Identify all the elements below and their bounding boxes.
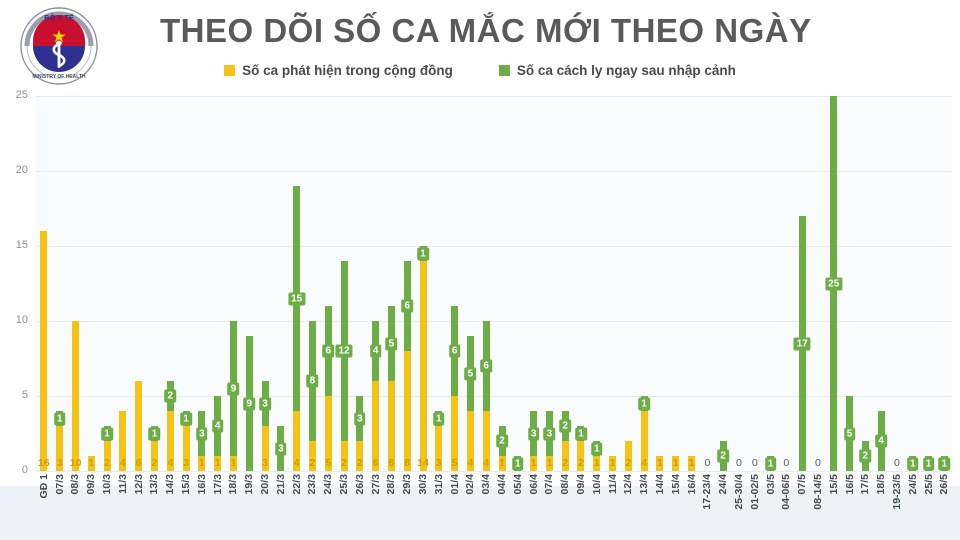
- bar-column[interactable]: [731, 96, 747, 471]
- x-axis-tick: 08-14/5: [810, 474, 826, 540]
- bar-column[interactable]: 1: [573, 96, 589, 471]
- bar-label-quarantine: 3: [354, 412, 366, 425]
- page-title: THEO DÕI SỐ CA MẮC MỚI THEO NGÀY: [160, 8, 800, 54]
- bar-label-quarantine: 1: [417, 247, 429, 260]
- x-axis-tick: 08/3: [68, 474, 84, 540]
- bar-segment-quarantine[interactable]: 4: [214, 396, 221, 456]
- x-axis-tick: 31/3: [431, 474, 447, 540]
- bar-value-label: 4: [636, 455, 652, 471]
- bar-column[interactable]: [131, 96, 147, 471]
- x-axis-tick: 24/5: [905, 474, 921, 540]
- bar-column[interactable]: [68, 96, 84, 471]
- x-axis-tick-label: 25-30/4: [733, 474, 745, 510]
- bar-value-label: 2: [620, 455, 636, 471]
- x-axis-labels-row: GĐ 107/308/309/310/311/312/313/314/315/3…: [36, 474, 952, 540]
- bar-value-label: 14: [415, 455, 431, 471]
- bar-value-label: [826, 455, 842, 471]
- bar-value-label: 5: [320, 455, 336, 471]
- bar-column[interactable]: 1: [415, 96, 431, 471]
- x-axis-tick-label: 03/5: [765, 474, 777, 494]
- bar-value-label: 1: [83, 455, 99, 471]
- bar-label-quarantine: 15: [288, 292, 305, 305]
- bar-value-label: [857, 455, 873, 471]
- bar-value-label: [763, 455, 779, 471]
- bar-value-label: 4: [115, 455, 131, 471]
- bar-column[interactable]: 6: [399, 96, 415, 471]
- y-tick-10: 10: [16, 314, 28, 326]
- bar-label-quarantine: 1: [101, 427, 113, 440]
- bar-column[interactable]: 5: [463, 96, 479, 471]
- bar-value-label: 1: [652, 455, 668, 471]
- legend-item-quarantine[interactable]: Số ca cách ly ngay sau nhập cảnh: [499, 63, 736, 78]
- bar-column[interactable]: 3: [194, 96, 210, 471]
- x-axis-tick: 16/4: [684, 474, 700, 540]
- x-axis-tick-label: 01-02/5: [749, 474, 761, 510]
- bar-label-quarantine: 12: [335, 345, 352, 358]
- x-axis-tick: 18/5: [873, 474, 889, 540]
- bar-stack: 5: [467, 336, 474, 471]
- bar-column[interactable]: 3: [257, 96, 273, 471]
- bar-column[interactable]: 9: [226, 96, 242, 471]
- x-axis-tick-label: 24/4: [717, 474, 729, 494]
- x-axis-tick: 25-30/4: [731, 474, 747, 540]
- bar-column[interactable]: [115, 96, 131, 471]
- bar-label-quarantine: 3: [275, 442, 287, 455]
- bar-column[interactable]: 9: [241, 96, 257, 471]
- svg-text:BỘ Y TẾ: BỘ Y TẾ: [44, 12, 74, 22]
- bar-value-label: 4: [478, 455, 494, 471]
- bar-column[interactable]: 1: [921, 96, 937, 471]
- bar-segment-community[interactable]: [420, 261, 427, 471]
- x-axis-tick: 14/4: [652, 474, 668, 540]
- chart-legend: Số ca phát hiện trong cộng đồng Số ca cá…: [160, 63, 800, 78]
- bar-column[interactable]: 1: [510, 96, 526, 471]
- bar-value-label: 2: [99, 455, 115, 471]
- x-axis-tick: 15/4: [668, 474, 684, 540]
- x-axis-tick: 11/4: [605, 474, 621, 540]
- x-axis-tick-label: 25/3: [338, 474, 350, 494]
- x-axis-tick-label: 16/5: [844, 474, 856, 494]
- x-axis-tick: 09/3: [83, 474, 99, 540]
- bar-segment-quarantine[interactable]: 1: [577, 426, 584, 441]
- x-axis-tick: 12/3: [131, 474, 147, 540]
- bar-column[interactable]: 6: [320, 96, 336, 471]
- bar-segment-quarantine[interactable]: 12: [341, 261, 348, 441]
- x-axis-tick: 26/3: [352, 474, 368, 540]
- bar-label-quarantine: 4: [212, 420, 224, 433]
- x-axis-tick-label: 31/3: [433, 474, 445, 494]
- legend-item-community[interactable]: Số ca phát hiện trong cộng đồng: [224, 63, 453, 78]
- bar-column[interactable]: 1: [905, 96, 921, 471]
- bar-stack: 4: [372, 321, 379, 471]
- bar-label-quarantine: 4: [875, 435, 887, 448]
- x-axis-tick: 10/3: [99, 474, 115, 540]
- bar-column[interactable]: [605, 96, 621, 471]
- bar-segment-quarantine[interactable]: 1: [435, 411, 442, 426]
- bar-column[interactable]: [684, 96, 700, 471]
- bar-column[interactable]: 17: [794, 96, 810, 471]
- bar-label-quarantine: 1: [433, 412, 445, 425]
- x-axis-tick: 28/3: [384, 474, 400, 540]
- legend-swatch-quarantine: [499, 65, 510, 76]
- bar-segment-quarantine[interactable]: 8: [309, 321, 316, 441]
- bar-column[interactable]: 1: [589, 96, 605, 471]
- bar-value-label: 4: [162, 455, 178, 471]
- x-axis-tick: 30/3: [415, 474, 431, 540]
- bar-value-label: 6: [131, 455, 147, 471]
- bar-column[interactable]: 5: [842, 96, 858, 471]
- bar-stack: 17: [799, 216, 806, 471]
- bar-column[interactable]: 4: [368, 96, 384, 471]
- x-axis-tick: 25/3: [336, 474, 352, 540]
- bar-segment-quarantine[interactable]: 6: [483, 321, 490, 411]
- x-axis-tick: 18/3: [226, 474, 242, 540]
- bar-stack: 12: [341, 261, 348, 471]
- x-axis-tick: 03/5: [763, 474, 779, 540]
- bar-value-label: 1: [494, 455, 510, 471]
- bar-column[interactable]: 1: [431, 96, 447, 471]
- bar-segment-quarantine[interactable]: 1: [183, 411, 190, 426]
- bar-column[interactable]: 1: [147, 96, 163, 471]
- bar-column[interactable]: 1: [52, 96, 68, 471]
- bar-label-quarantine: 1: [149, 427, 161, 440]
- bar-value-label: 5: [447, 455, 463, 471]
- bar-segment-quarantine[interactable]: 1: [420, 246, 427, 261]
- bar-value-label: 0: [731, 455, 747, 471]
- bar-segment-quarantine[interactable]: 9: [246, 336, 253, 471]
- x-axis-tick: 24/3: [320, 474, 336, 540]
- x-axis-tick-label: 15/3: [180, 474, 192, 494]
- bar-segment-quarantine[interactable]: 9: [230, 321, 237, 456]
- x-axis-tick-label: 16/4: [686, 474, 698, 494]
- bar-value-label: 0: [699, 455, 715, 471]
- x-axis-tick: 26/5: [936, 474, 952, 540]
- bar-value-label: 1: [210, 455, 226, 471]
- bar-segment-quarantine[interactable]: 1: [151, 426, 158, 441]
- x-axis-tick-label: 11/3: [117, 474, 129, 494]
- bar-column[interactable]: 1: [636, 96, 652, 471]
- bar-stack: 8: [309, 321, 316, 471]
- bar-segment-quarantine[interactable]: 15: [293, 186, 300, 411]
- bar-column[interactable]: [699, 96, 715, 471]
- bar-segment-quarantine[interactable]: 3: [198, 411, 205, 456]
- chart-header: BỘ Y TẾ MINISTRY OF HEALTH THEO DÕI SỐ C…: [0, 0, 960, 88]
- legend-label-community: Số ca phát hiện trong cộng đồng: [242, 63, 453, 78]
- bar-value-label: 2: [147, 455, 163, 471]
- bar-column[interactable]: [668, 96, 684, 471]
- x-axis-tick-label: 03/4: [480, 474, 492, 494]
- bar-column[interactable]: [778, 96, 794, 471]
- bar-value-label: 4: [463, 455, 479, 471]
- bar-value-label: 6: [368, 455, 384, 471]
- x-axis-tick-label: 22/3: [291, 474, 303, 494]
- bar-segment-quarantine[interactable]: 17: [799, 216, 806, 471]
- x-axis-tick: 05/4: [510, 474, 526, 540]
- x-axis-tick-label: 19-23/5: [891, 474, 903, 510]
- x-axis-tick: 06/4: [526, 474, 542, 540]
- x-axis-tick-label: 09/4: [575, 474, 587, 494]
- bar-stack: 9: [246, 336, 253, 471]
- bar-segment-quarantine[interactable]: 1: [641, 396, 648, 411]
- y-tick-0: 0: [22, 464, 28, 476]
- bar-stack: 6: [451, 306, 458, 471]
- x-axis-tick: 01-02/5: [747, 474, 763, 540]
- bar-label-quarantine: 1: [591, 442, 603, 455]
- bar-column[interactable]: 25: [826, 96, 842, 471]
- x-axis-tick-label: 24/3: [322, 474, 334, 494]
- x-axis-tick: 07/3: [52, 474, 68, 540]
- x-axis-tick: 21/3: [273, 474, 289, 540]
- bar-series-container: 1112134993315861234561165621332111211725…: [36, 96, 952, 471]
- bar-stack: [40, 231, 47, 471]
- bar-value-label: [873, 455, 889, 471]
- bar-value-label: 4: [289, 455, 305, 471]
- bar-column[interactable]: 6: [447, 96, 463, 471]
- bar-label-quarantine: 2: [164, 390, 176, 403]
- x-axis-tick: 04/4: [494, 474, 510, 540]
- bar-stack: 6: [404, 261, 411, 471]
- bar-value-label: 6: [384, 455, 400, 471]
- bar-value-label: 2: [336, 455, 352, 471]
- x-axis-tick: GĐ 1: [36, 474, 52, 540]
- bar-column[interactable]: 15: [289, 96, 305, 471]
- x-axis-tick-label: 10/4: [591, 474, 603, 494]
- bar-label-quarantine: 1: [54, 412, 66, 425]
- bar-column[interactable]: 2: [715, 96, 731, 471]
- bar-segment-quarantine[interactable]: 1: [104, 426, 111, 441]
- x-axis-tick-label: 29/3: [401, 474, 413, 494]
- bar-label-quarantine: 5: [844, 427, 856, 440]
- x-axis-tick-label: 11/4: [607, 474, 619, 494]
- bar-value-label: 16: [36, 455, 52, 471]
- x-axis-tick-label: 08/3: [69, 474, 81, 494]
- bar-stack: [72, 321, 79, 471]
- legend-swatch-community: [224, 65, 235, 76]
- x-axis-tick: 07/5: [794, 474, 810, 540]
- bar-segment-quarantine[interactable]: 25: [830, 96, 837, 471]
- bar-value-label: 1: [589, 455, 605, 471]
- bar-value-label: 3: [52, 455, 68, 471]
- bar-value-label: [842, 455, 858, 471]
- bar-column[interactable]: 4: [210, 96, 226, 471]
- x-axis-tick-label: 21/3: [275, 474, 287, 494]
- bar-value-label: 3: [431, 455, 447, 471]
- x-axis-tick: 09/4: [573, 474, 589, 540]
- x-axis-tick: 15/3: [178, 474, 194, 540]
- bar-label-quarantine: 9: [228, 382, 240, 395]
- ministry-of-health-logo: BỘ Y TẾ MINISTRY OF HEALTH: [18, 5, 100, 87]
- bar-segment-quarantine[interactable]: 2: [499, 426, 506, 456]
- bar-label-quarantine: 3: [196, 427, 208, 440]
- bar-value-label: [936, 455, 952, 471]
- bar-label-quarantine: 2: [559, 420, 571, 433]
- bar-segment-quarantine[interactable]: 3: [530, 411, 537, 456]
- bar-segment-quarantine[interactable]: 2: [562, 411, 569, 441]
- x-axis-tick-label: GĐ 1: [38, 474, 50, 499]
- bar-label-quarantine: 5: [386, 337, 398, 350]
- bar-segment-quarantine[interactable]: 3: [546, 411, 553, 456]
- svg-text:MINISTRY OF HEALTH: MINISTRY OF HEALTH: [32, 74, 86, 80]
- x-axis-tick-label: 24/5: [907, 474, 919, 494]
- x-axis-tick: 12/4: [620, 474, 636, 540]
- bar-segment-community[interactable]: [72, 321, 79, 471]
- bar-column[interactable]: 2: [557, 96, 573, 471]
- bar-column[interactable]: 3: [526, 96, 542, 471]
- bar-column[interactable]: 3: [542, 96, 558, 471]
- x-axis-tick-label: 01/4: [449, 474, 461, 494]
- bar-column[interactable]: [747, 96, 763, 471]
- bar-value-label: 0: [747, 455, 763, 471]
- bar-column[interactable]: 2: [162, 96, 178, 471]
- bar-segment-community[interactable]: [40, 231, 47, 471]
- bar-label-quarantine: 6: [322, 345, 334, 358]
- bar-stack: 6: [325, 306, 332, 471]
- x-axis-tick: 20/3: [257, 474, 273, 540]
- x-axis-tick-label: 02/4: [464, 474, 476, 494]
- bar-column[interactable]: [889, 96, 905, 471]
- x-axis-tick-label: 17-23/4: [701, 474, 713, 510]
- x-axis-tick: 27/3: [368, 474, 384, 540]
- x-axis-tick: 15/5: [826, 474, 842, 540]
- bar-value-label: 0: [810, 455, 826, 471]
- bar-value-label: 1: [526, 455, 542, 471]
- bar-segment-quarantine[interactable]: 6: [451, 306, 458, 396]
- x-axis-tick: 03/4: [478, 474, 494, 540]
- bar-column[interactable]: 5: [384, 96, 400, 471]
- bar-column[interactable]: [36, 96, 52, 471]
- bar-value-label: 2: [305, 455, 321, 471]
- x-axis-tick-label: 07/5: [796, 474, 808, 494]
- bar-value-label: 1: [605, 455, 621, 471]
- x-axis-tick: 17-23/4: [699, 474, 715, 540]
- bar-label-quarantine: 25: [825, 277, 842, 290]
- x-axis-tick: 22/3: [289, 474, 305, 540]
- x-axis-tick: 17/5: [857, 474, 873, 540]
- bar-column[interactable]: 3: [273, 96, 289, 471]
- bar-column[interactable]: 12: [336, 96, 352, 471]
- bar-label-quarantine: 9: [243, 397, 255, 410]
- bar-label-quarantine: 1: [638, 397, 650, 410]
- legend-label-quarantine: Số ca cách ly ngay sau nhập cảnh: [517, 63, 736, 78]
- bar-segment-quarantine[interactable]: 3: [356, 396, 363, 441]
- x-axis-tick-label: 14/3: [164, 474, 176, 494]
- y-tick-5: 5: [22, 389, 28, 401]
- bar-segment-quarantine[interactable]: 5: [388, 306, 395, 381]
- bar-column[interactable]: [810, 96, 826, 471]
- bar-column[interactable]: 2: [857, 96, 873, 471]
- bar-segment-quarantine[interactable]: 3: [262, 381, 269, 426]
- bar-column[interactable]: [652, 96, 668, 471]
- bar-stack: 5: [388, 306, 395, 471]
- bar-column[interactable]: 3: [352, 96, 368, 471]
- bar-column[interactable]: 1: [936, 96, 952, 471]
- x-axis-tick-label: 04-06/5: [780, 474, 792, 510]
- bar-segment-quarantine[interactable]: 5: [467, 336, 474, 411]
- bar-value-label: [794, 455, 810, 471]
- x-axis-tick: 08/4: [557, 474, 573, 540]
- bar-value-label: 2: [352, 455, 368, 471]
- x-axis-tick-label: 08-14/5: [812, 474, 824, 510]
- y-tick-15: 15: [16, 239, 28, 251]
- x-axis-tick-label: 14/4: [654, 474, 666, 494]
- gridline-0: [36, 471, 952, 472]
- plot-area: 1112134993315861234561165621332111211725…: [36, 96, 952, 471]
- bar-column[interactable]: 4: [873, 96, 889, 471]
- bar-segment-quarantine[interactable]: 1: [56, 411, 63, 426]
- bar-value-label: 1: [668, 455, 684, 471]
- x-axis-tick: 01/4: [447, 474, 463, 540]
- x-axis-tick-label: 18/5: [875, 474, 887, 494]
- bar-column[interactable]: 1: [178, 96, 194, 471]
- bar-label-quarantine: 4: [370, 345, 382, 358]
- x-axis-tick: 23/3: [305, 474, 321, 540]
- x-axis-tick: 16/3: [194, 474, 210, 540]
- bar-column[interactable]: 1: [763, 96, 779, 471]
- x-axis-tick: 24/4: [715, 474, 731, 540]
- bar-label-quarantine: 5: [465, 367, 477, 380]
- x-axis-tick: 02/4: [463, 474, 479, 540]
- bar-value-label: [715, 455, 731, 471]
- y-tick-20: 20: [16, 164, 28, 176]
- bar-label-quarantine: 8: [307, 375, 319, 388]
- bar-segment-community[interactable]: [404, 351, 411, 471]
- bar-column[interactable]: 2: [494, 96, 510, 471]
- bar-segment-quarantine[interactable]: 1: [593, 441, 600, 456]
- x-axis-tick-label: 13/3: [148, 474, 160, 494]
- bar-value-label: 1: [542, 455, 558, 471]
- bar-segment-quarantine[interactable]: 4: [372, 321, 379, 381]
- x-axis-tick-label: 26/5: [938, 474, 950, 494]
- y-axis-labels: 0510152025: [0, 96, 34, 471]
- x-axis-tick-label: 10/3: [101, 474, 113, 494]
- bar-column[interactable]: [620, 96, 636, 471]
- x-axis-tick-label: 19/3: [243, 474, 255, 494]
- x-axis-tick-label: 15/5: [828, 474, 840, 494]
- x-axis-tick: 19-23/5: [889, 474, 905, 540]
- bar-column[interactable]: 8: [305, 96, 321, 471]
- x-axis-tick-label: 23/3: [306, 474, 318, 494]
- x-axis-tick: 19/3: [241, 474, 257, 540]
- x-axis-tick-label: 07/3: [54, 474, 66, 494]
- x-axis-tick-label: 18/3: [227, 474, 239, 494]
- x-axis-tick-label: 05/4: [512, 474, 524, 494]
- bar-label-quarantine: 6: [401, 300, 413, 313]
- bar-value-label: 2: [573, 455, 589, 471]
- bar-column[interactable]: 1: [99, 96, 115, 471]
- bar-value-label: [510, 455, 526, 471]
- x-axis-tick: 17/3: [210, 474, 226, 540]
- x-axis-tick-label: 25/5: [923, 474, 935, 494]
- bar-stack: 15: [293, 186, 300, 471]
- x-axis-tick-label: 12/3: [133, 474, 145, 494]
- bar-value-label: 2: [557, 455, 573, 471]
- bar-stack: 9: [230, 321, 237, 471]
- x-axis-tick-label: 12/4: [622, 474, 634, 494]
- bar-value-label: 0: [778, 455, 794, 471]
- x-axis-tick-label: 17/3: [212, 474, 224, 494]
- bar-stack: 1: [420, 246, 427, 471]
- bar-segment-quarantine[interactable]: 6: [404, 261, 411, 351]
- x-axis-tick: 11/3: [115, 474, 131, 540]
- bar-label-quarantine: 1: [180, 412, 192, 425]
- x-axis-tick: 16/5: [842, 474, 858, 540]
- bar-label-quarantine: 3: [544, 427, 556, 440]
- bar-segment-quarantine[interactable]: 6: [325, 306, 332, 396]
- bar-segment-quarantine[interactable]: 2: [167, 381, 174, 411]
- bar-label-quarantine: 1: [575, 427, 587, 440]
- bar-column[interactable]: 6: [478, 96, 494, 471]
- bar-column[interactable]: [83, 96, 99, 471]
